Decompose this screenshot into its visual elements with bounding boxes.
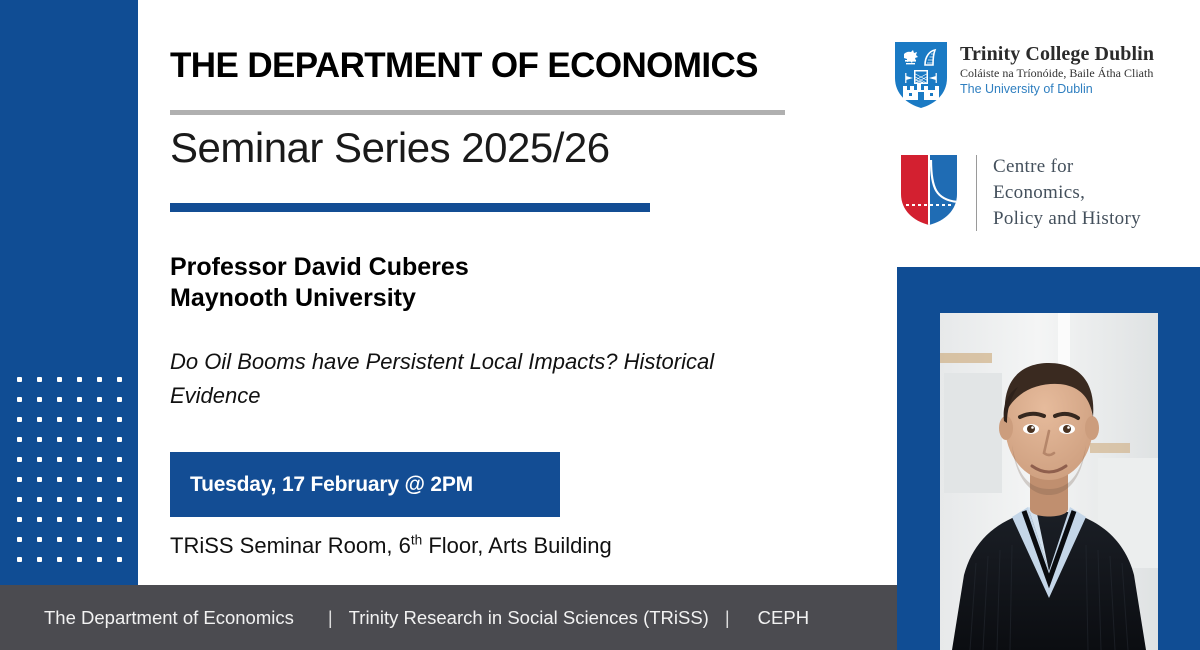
dot-icon <box>117 517 122 522</box>
dot-icon <box>57 557 62 562</box>
dot-icon <box>17 437 22 442</box>
dot-icon <box>37 397 42 402</box>
blue-divider-rule <box>170 203 650 212</box>
location-prefix: TRiSS Seminar Room, 6 <box>170 533 411 558</box>
speaker-photo-panel <box>897 267 1200 650</box>
speaker-name: Professor David Cuberes <box>170 252 469 283</box>
dot-icon <box>57 517 62 522</box>
dot-icon <box>57 397 62 402</box>
dot-icon <box>37 537 42 542</box>
ceph-logo: Centre for Economics, Policy and History <box>898 152 1141 233</box>
dot-icon <box>57 417 62 422</box>
dot-icon <box>37 417 42 422</box>
speaker-affiliation: Maynooth University <box>170 283 469 314</box>
dot-icon <box>117 537 122 542</box>
dot-icon <box>97 497 102 502</box>
main-content-column: THE DEPARTMENT OF ECONOMICS Seminar Seri… <box>170 0 870 585</box>
dot-icon <box>117 457 122 462</box>
footer-item-department: The Department of Economics <box>44 607 294 629</box>
ceph-line-2: Economics, <box>993 180 1141 206</box>
dot-icon <box>77 397 82 402</box>
dot-icon <box>17 477 22 482</box>
dot-icon <box>97 417 102 422</box>
dot-icon <box>117 417 122 422</box>
location-ordinal: th <box>411 533 422 548</box>
dot-icon <box>57 537 62 542</box>
trinity-name: Trinity College Dublin <box>960 43 1154 65</box>
dot-icon <box>117 557 122 562</box>
dot-icon <box>77 417 82 422</box>
dot-icon <box>77 457 82 462</box>
dot-icon <box>97 517 102 522</box>
location-text: TRiSS Seminar Room, 6th Floor, Arts Buil… <box>170 533 612 559</box>
dot-icon <box>37 517 42 522</box>
ceph-vertical-divider <box>976 155 977 231</box>
decorative-dot-grid <box>17 377 129 577</box>
dot-icon <box>57 477 62 482</box>
dot-icon <box>77 537 82 542</box>
dot-icon <box>17 497 22 502</box>
ceph-shield-icon <box>898 152 960 233</box>
dot-icon <box>17 417 22 422</box>
dot-icon <box>97 377 102 382</box>
footer-item-ceph: CEPH <box>758 607 809 629</box>
dot-icon <box>117 497 122 502</box>
dot-icon <box>117 477 122 482</box>
dot-icon <box>17 397 22 402</box>
dot-icon <box>77 437 82 442</box>
trinity-logo-text: Trinity College Dublin Coláiste na Tríon… <box>960 40 1154 98</box>
dot-icon <box>77 497 82 502</box>
dot-icon <box>57 497 62 502</box>
dot-icon <box>37 557 42 562</box>
dot-icon <box>37 437 42 442</box>
ceph-logo-text: Centre for Economics, Policy and History <box>993 154 1141 232</box>
ceph-line-3: Policy and History <box>993 206 1141 232</box>
dot-icon <box>17 517 22 522</box>
date-time-banner: Tuesday, 17 February @ 2PM <box>170 452 560 517</box>
dot-icon <box>17 457 22 462</box>
dot-icon <box>17 537 22 542</box>
dot-icon <box>17 557 22 562</box>
dot-icon <box>57 457 62 462</box>
dot-icon <box>77 477 82 482</box>
date-time-text: Tuesday, 17 February @ 2PM <box>170 473 473 497</box>
footer-item-triss: Trinity Research in Social Sciences (TRi… <box>349 607 709 629</box>
speaker-portrait <box>940 313 1158 650</box>
dot-icon <box>117 377 122 382</box>
trinity-tagline: The University of Dublin <box>960 81 1154 98</box>
dot-icon <box>37 477 42 482</box>
left-sidebar-panel <box>0 0 138 585</box>
dot-icon <box>77 517 82 522</box>
dot-icon <box>97 457 102 462</box>
dot-icon <box>57 377 62 382</box>
gray-divider-rule <box>170 110 785 115</box>
dot-icon <box>97 537 102 542</box>
footer-separator: | <box>709 607 758 629</box>
series-title: Seminar Series 2025/26 <box>170 124 610 172</box>
dot-icon <box>77 557 82 562</box>
trinity-shield-icon <box>893 40 949 115</box>
location-suffix: Floor, Arts Building <box>422 533 612 558</box>
footer-bar: The Department of Economics | Trinity Re… <box>0 585 897 650</box>
dot-icon <box>17 377 22 382</box>
department-title: THE DEPARTMENT OF ECONOMICS <box>170 46 758 86</box>
footer-separator: | <box>294 607 349 629</box>
dot-icon <box>57 437 62 442</box>
seminar-poster: THE DEPARTMENT OF ECONOMICS Seminar Seri… <box>0 0 1200 650</box>
dot-icon <box>77 377 82 382</box>
trinity-irish-name: Coláiste na Tríonóide, Baile Átha Cliath <box>960 65 1154 81</box>
footer-items: The Department of Economics | Trinity Re… <box>0 607 809 629</box>
dot-icon <box>97 437 102 442</box>
dot-icon <box>117 437 122 442</box>
trinity-college-dublin-logo: Trinity College Dublin Coláiste na Tríon… <box>893 40 1154 115</box>
ceph-line-1: Centre for <box>993 154 1141 180</box>
dot-icon <box>117 397 122 402</box>
dot-icon <box>97 477 102 482</box>
dot-icon <box>97 557 102 562</box>
dot-icon <box>37 377 42 382</box>
speaker-block: Professor David Cuberes Maynooth Univers… <box>170 252 469 314</box>
dot-icon <box>97 397 102 402</box>
talk-title: Do Oil Booms have Persistent Local Impac… <box>170 345 795 413</box>
dot-icon <box>37 497 42 502</box>
dot-icon <box>37 457 42 462</box>
